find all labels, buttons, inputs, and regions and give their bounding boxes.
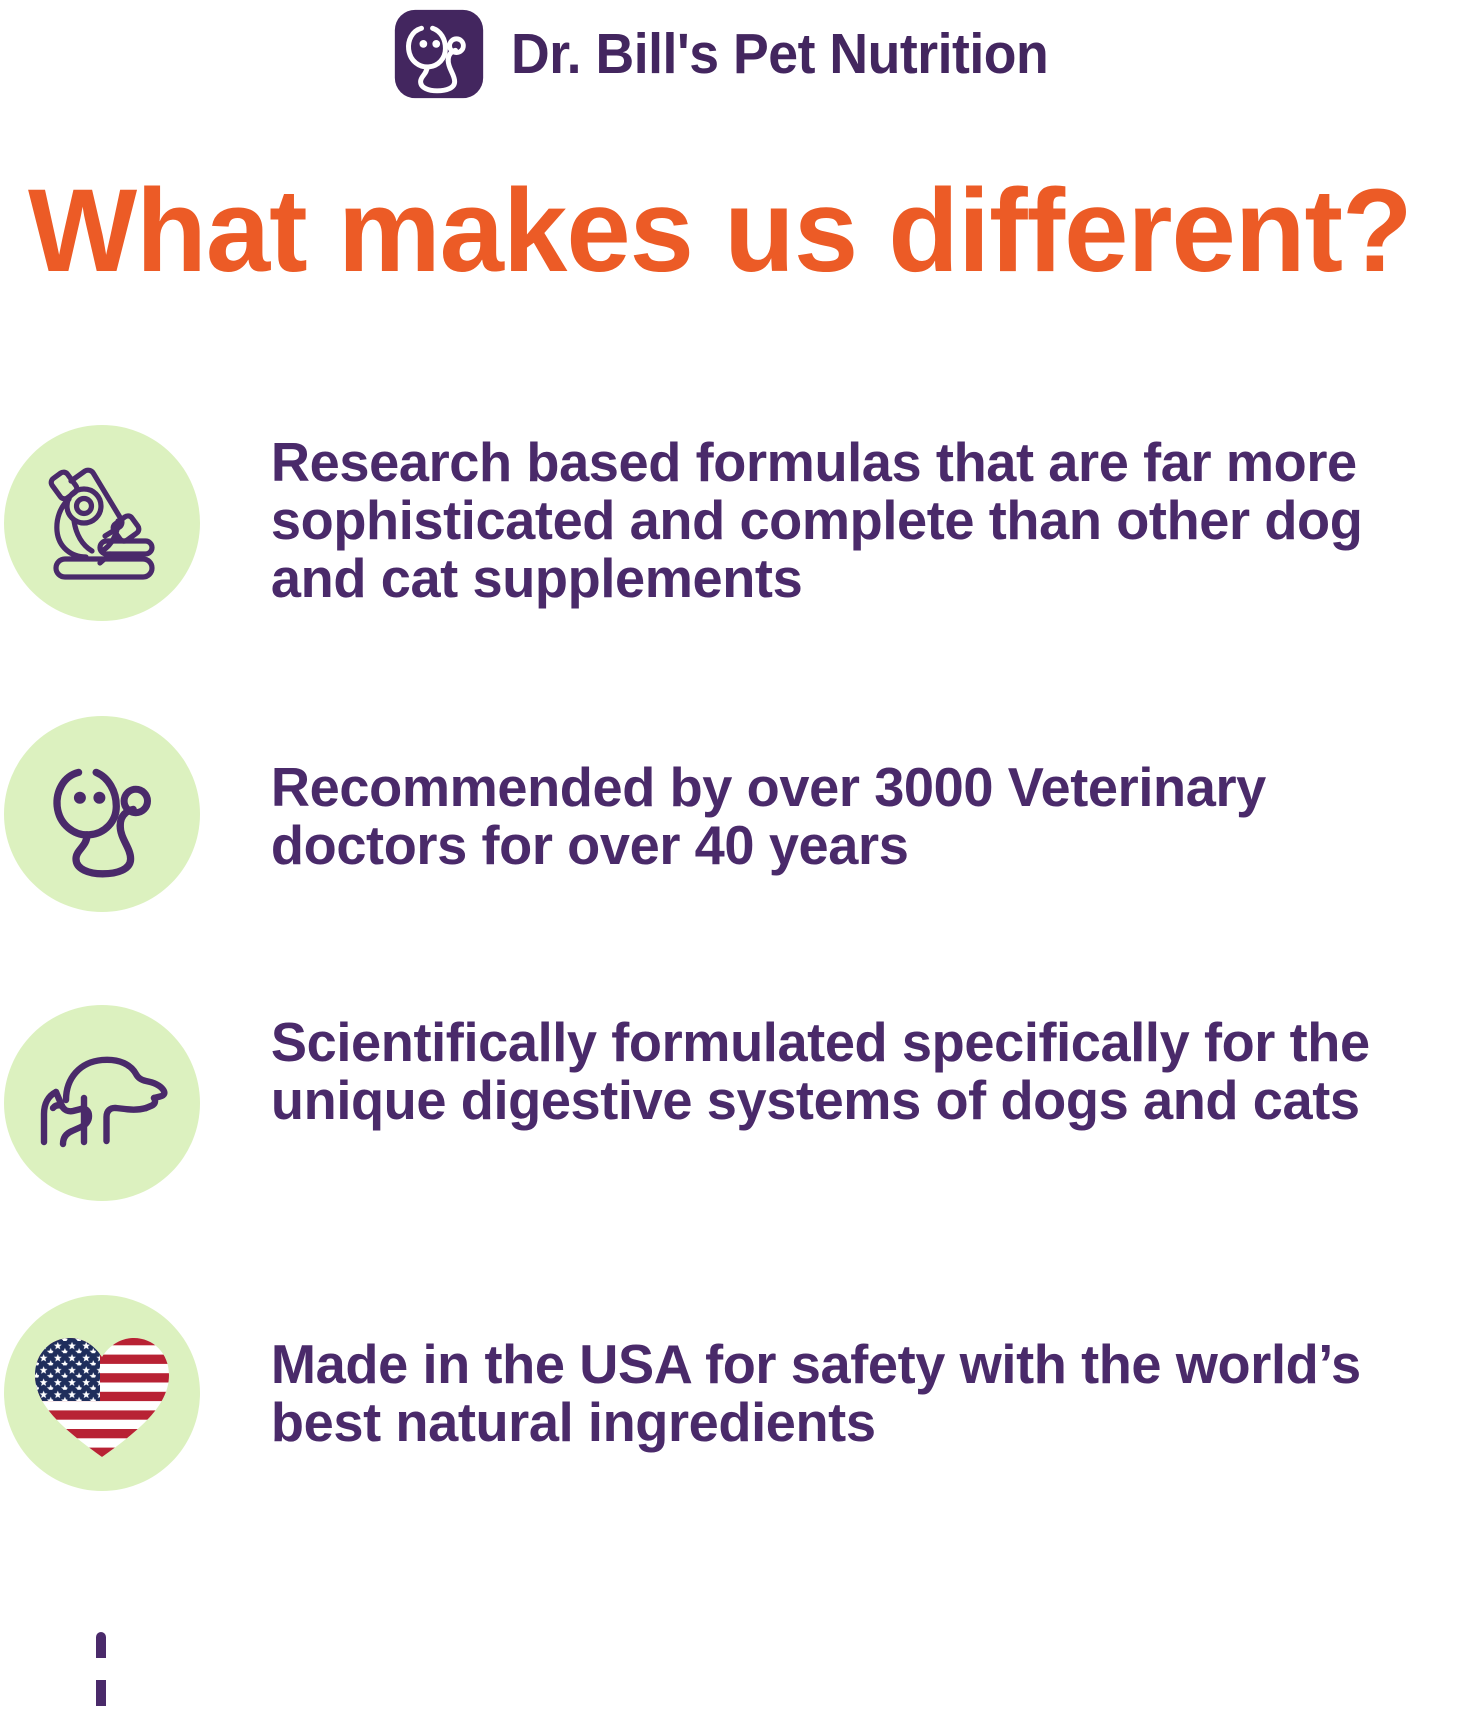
feature-text: Made in the USA for safety with the worl… <box>200 1295 1457 1451</box>
microscope-icon <box>38 459 166 587</box>
feature-item: Scientifically formulated specifically f… <box>0 1005 1476 1201</box>
feature-list: Research based formulas that are far mor… <box>0 425 1476 1500</box>
feature-icon-badge <box>4 1295 200 1491</box>
feature-icon-badge <box>4 425 200 621</box>
feature-text: Research based formulas that are far mor… <box>200 425 1457 607</box>
dog-and-cat-icon <box>26 1038 178 1168</box>
usa-flag-heart-icon <box>27 1325 177 1461</box>
feature-icon-badge <box>4 716 200 912</box>
brand-header: Dr. Bill's Pet Nutrition <box>0 4 1476 104</box>
feature-icon-badge <box>4 1005 200 1201</box>
feature-item: Research based formulas that are far mor… <box>0 425 1476 621</box>
dashed-connector-icon <box>96 1632 106 1720</box>
brand-name: Dr. Bill's Pet Nutrition <box>511 26 1048 83</box>
feature-item: Made in the USA for safety with the worl… <box>0 1295 1476 1491</box>
feature-item: Recommended by over 3000 Veterinary doct… <box>0 716 1476 912</box>
feature-text: Scientifically formulated specifically f… <box>200 1005 1457 1129</box>
stethoscope-face-logo-icon <box>393 8 485 100</box>
feature-text: Recommended by over 3000 Veterinary doct… <box>200 716 1457 874</box>
page-title: What makes us different? <box>28 172 1429 290</box>
stethoscope-icon <box>37 749 167 879</box>
